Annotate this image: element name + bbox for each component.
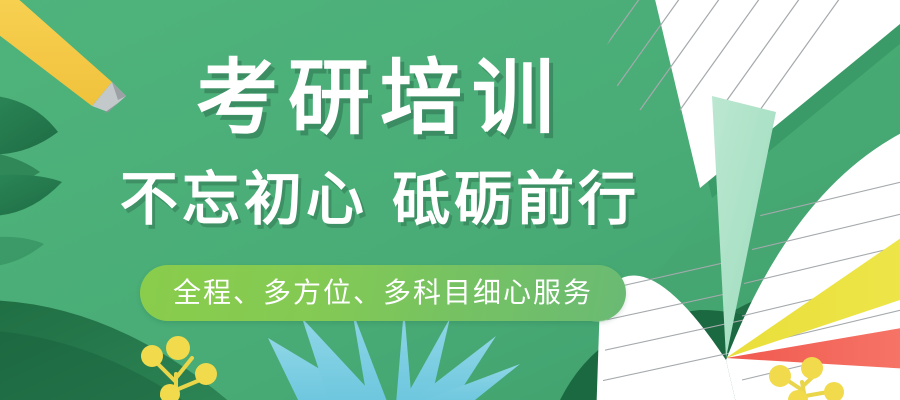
banner-title: 考研培训 [0, 58, 760, 140]
tagline-text: 全程、多方位、多科目细心服务 [140, 265, 626, 321]
course-promo-banner: 考研培训 不忘初心 砥砺前行 全程、多方位、多科目细心服务 [0, 0, 900, 400]
banner-text-layer: 考研培训 不忘初心 砥砺前行 全程、多方位、多科目细心服务 [0, 0, 900, 400]
banner-subtitle: 不忘初心 砥砺前行 [0, 170, 760, 228]
